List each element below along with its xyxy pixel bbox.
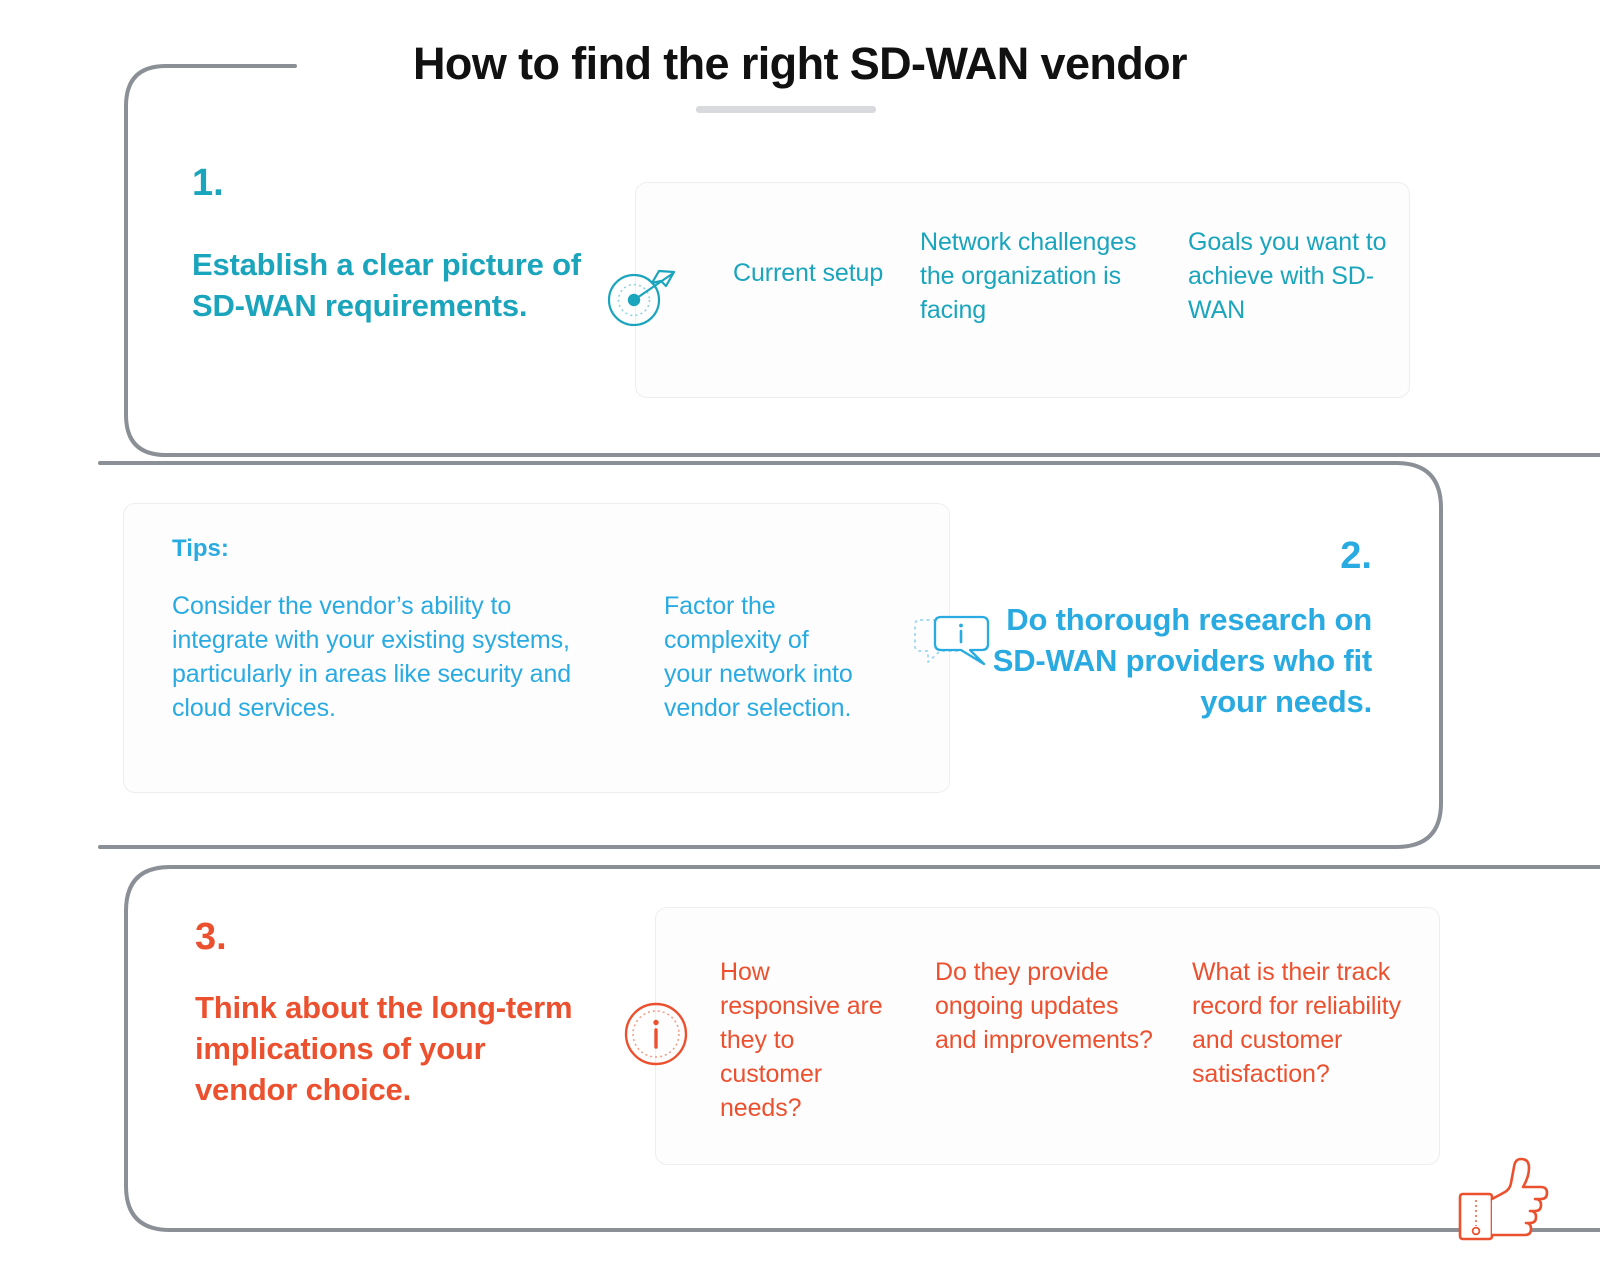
step-2-tips-label: Tips: xyxy=(172,535,229,564)
step-2-heading: Do thorough research on SD-WAN providers… xyxy=(960,600,1372,723)
infographic-canvas: How to find the right SD-WAN vendor 1. E… xyxy=(0,0,1600,1278)
target-arrow-icon xyxy=(604,264,682,330)
step-1-item-0: Current setup xyxy=(733,256,893,290)
step-3-item-1: Do they provide ongoing updates and impr… xyxy=(935,955,1153,1057)
step-3-number: 3. xyxy=(195,918,227,956)
step-1-item-2: Goals you want to achieve with SD-WAN xyxy=(1188,225,1388,327)
step-2-tip-1: Factor the complexity of your network in… xyxy=(664,589,859,725)
page-title: How to find the right SD-WAN vendor xyxy=(0,38,1600,90)
step-2-number: 2. xyxy=(1000,537,1372,575)
info-circle-icon xyxy=(622,1000,690,1068)
step-1-heading: Establish a clear picture of SD-WAN requ… xyxy=(192,245,582,327)
step-2-tip-0: Consider the vendor’s ability to integra… xyxy=(172,589,572,725)
title-divider xyxy=(696,106,876,113)
step-1-item-1: Network challenges the organization is f… xyxy=(920,225,1140,327)
step-3-item-2: What is their track record for reliabili… xyxy=(1192,955,1407,1091)
step-3-heading: Think about the long-term implications o… xyxy=(195,988,595,1111)
thumbs-up-icon xyxy=(1453,1152,1551,1248)
step-3-item-0: How responsive are they to customer need… xyxy=(720,955,885,1125)
step-1-number: 1. xyxy=(192,164,224,202)
